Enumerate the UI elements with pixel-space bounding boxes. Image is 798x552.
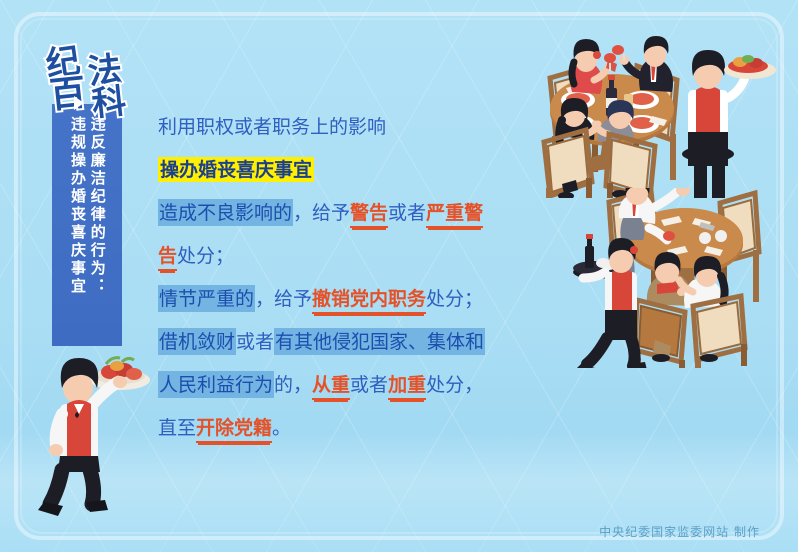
banquet-table-scene-bottom xyxy=(545,188,795,368)
segment-penalty-term: 告 xyxy=(158,245,177,271)
segment-penalty-term: 严重警 xyxy=(426,202,483,228)
segment-plain: 或者 xyxy=(350,374,388,396)
segment-plain: 直至 xyxy=(158,417,196,439)
play-triangle-icon xyxy=(74,96,84,110)
segment-highlight-blue: 人民利益行为 xyxy=(158,371,274,398)
vertical-title-banner: 违反廉洁纪律的行为： 违规操办婚丧喜庆事宜 xyxy=(52,104,122,346)
banner-column-left: 违规操办婚丧喜庆事宜 xyxy=(69,116,85,346)
text-line-1: 利用职权或者职务上的影响 xyxy=(158,106,558,149)
text-line-7: 人民利益行为的，从重或者加重处分， xyxy=(158,364,558,407)
segment-penalty-term: 撤销党内职务 xyxy=(312,288,426,314)
text-line-4: 告处分； xyxy=(158,235,558,278)
segment-plain: 或者 xyxy=(236,331,274,353)
segment-plain: 处分， xyxy=(426,374,483,396)
segment-highlight-blue: 情节严重的 xyxy=(158,285,255,312)
poster-canvas: 纪 法 百 科 违反廉洁纪律的行为： 违规操办婚丧喜庆事宜 利用职权或者职务上的… xyxy=(0,0,798,552)
segment-highlight-blue: 有其他侵犯国家、集体和 xyxy=(274,328,485,355)
text-line-8: 直至开除党籍。 xyxy=(158,407,558,450)
segment-plain: 。 xyxy=(272,417,291,439)
segment-plain: 处分； xyxy=(426,288,483,310)
text-line-5: 情节严重的，给予撤销党内职务处分； xyxy=(158,278,558,321)
segment-plain: 的， xyxy=(274,374,312,396)
segment-penalty-term: 从重 xyxy=(312,374,350,400)
brand-logo: 纪 法 百 科 xyxy=(44,44,152,124)
waiter-with-plate xyxy=(36,344,156,519)
segment-plain: ，给予 xyxy=(255,288,312,310)
segment-plain: 处分； xyxy=(177,245,234,267)
text-line-6: 借机敛财或者有其他侵犯国家、集体和 xyxy=(158,321,558,364)
segment-plain: ，给予 xyxy=(293,202,350,224)
segment-highlight-yellow: 操办婚丧喜庆事宜 xyxy=(158,157,314,182)
text-line-2: 操办婚丧喜庆事宜 xyxy=(158,149,558,192)
segment-penalty-term: 警告 xyxy=(350,202,388,228)
segment-penalty-term: 开除党籍 xyxy=(196,417,272,443)
text-line-3: 造成不良影响的，给予警告或者严重警 xyxy=(158,192,558,235)
regulation-text-block: 利用职权或者职务上的影响 操办婚丧喜庆事宜 造成不良影响的，给予警告或者严重警 … xyxy=(158,106,558,450)
segment-highlight-blue: 借机敛财 xyxy=(158,328,236,355)
segment-highlight-blue: 造成不良影响的 xyxy=(158,199,293,226)
segment-plain: 利用职权或者职务上的影响 xyxy=(158,116,386,138)
segment-penalty-term: 加重 xyxy=(388,374,426,400)
logo-char-4: 科 xyxy=(90,84,127,121)
segment-plain: 或者 xyxy=(388,202,426,224)
footer-credit: 中央纪委国家监委网站 制作 xyxy=(599,523,760,540)
banner-column-right: 违反廉洁纪律的行为： xyxy=(89,116,105,346)
